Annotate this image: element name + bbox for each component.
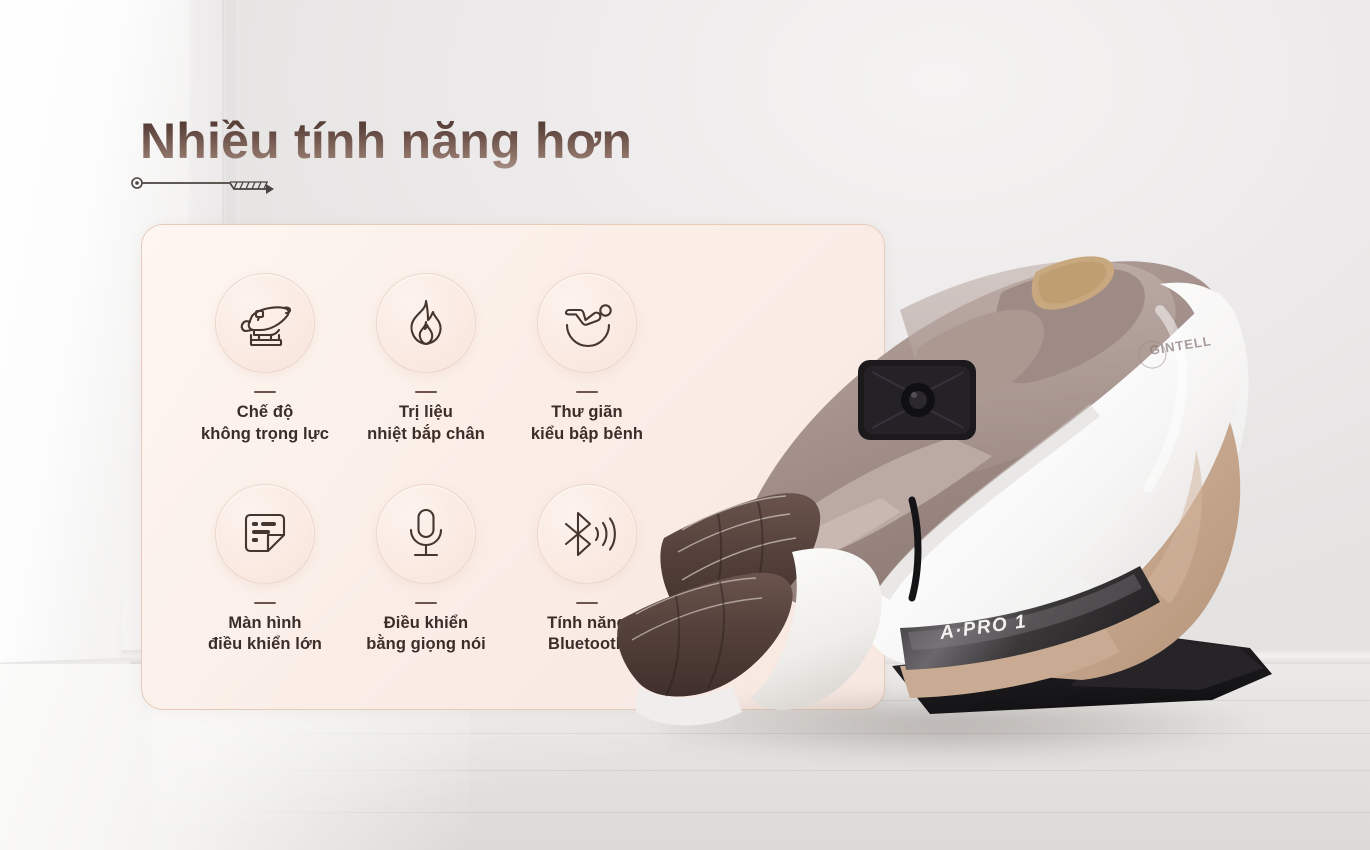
feature-card-calf-heat[interactable]: Trị liệu nhiệt bắp chân	[347, 273, 505, 446]
flame-icon	[397, 294, 455, 352]
massage-chair-product	[600, 200, 1300, 800]
feature-icon-circle	[376, 484, 476, 584]
caption-divider	[415, 391, 437, 393]
caption-divider	[254, 602, 276, 604]
microphone-icon	[400, 504, 452, 564]
feature-icon-circle	[215, 273, 315, 373]
feature-icon-circle	[376, 273, 476, 373]
arrow-right-icon	[266, 184, 274, 194]
control-screen-icon	[236, 505, 294, 563]
feature-card-control-screen[interactable]: Màn hình điều khiển lớn	[186, 484, 344, 657]
caption-divider	[415, 602, 437, 604]
feature-caption: Điều khiển bằng giọng nói	[366, 613, 486, 657]
feature-caption: Màn hình điều khiển lớn	[208, 613, 322, 657]
decorative-arrow	[130, 172, 290, 194]
feature-caption: Trị liệu nhiệt bắp chân	[367, 402, 485, 446]
caption-divider	[254, 391, 276, 393]
feature-icon-circle	[215, 484, 315, 584]
caption-divider	[576, 602, 598, 604]
massage-chair-icon	[234, 292, 296, 354]
feature-caption: Chế độ không trọng lực	[201, 402, 329, 446]
caption-divider	[576, 391, 598, 393]
page-title: Nhiều tính năng hơn	[140, 112, 632, 170]
feature-card-zero-gravity[interactable]: Chế độ không trọng lực	[186, 273, 344, 446]
feature-card-voice-control[interactable]: Điều khiển bằng giọng nói	[347, 484, 505, 657]
